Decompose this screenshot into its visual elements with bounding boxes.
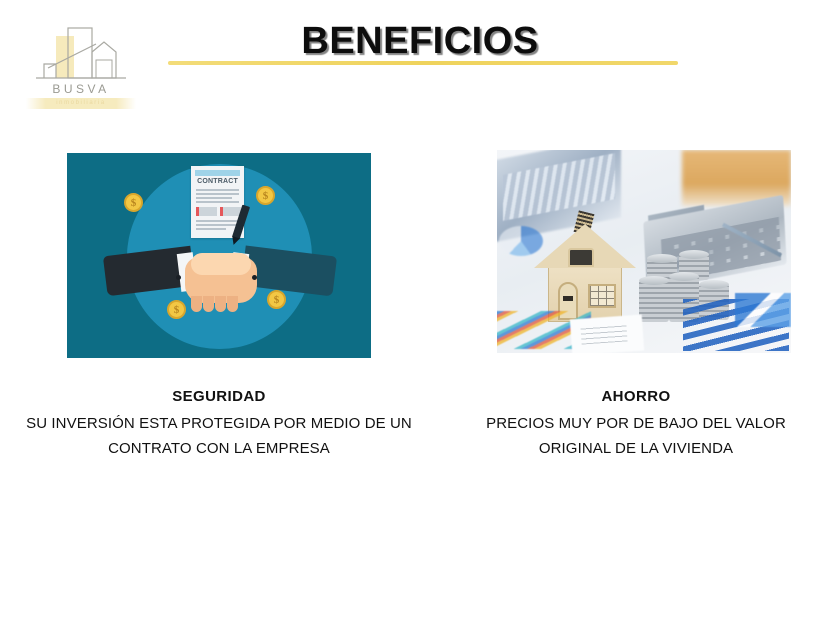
contract-text-line [196,189,239,191]
contract-label: CONTRACT [191,178,244,185]
contract-signature-box [220,207,241,216]
hand-finger [227,296,238,312]
coin-stack-top [669,272,699,281]
hand-finger [191,296,202,312]
handshake-upper-hand [191,253,251,275]
contract-text-line [196,224,239,226]
contract-text-line [196,193,239,195]
coin-stack [639,280,669,322]
dollar-coin-icon: $ [267,290,286,309]
title-underline-rule [168,61,678,65]
dollar-coin-icon: $ [256,186,275,205]
hand-finger [215,296,226,312]
house-window-grid [590,286,614,306]
benefit-body-saving: PRECIOS MUY POR DE BAJO DEL VALOR ORIGIN… [452,411,820,461]
contract-signature-box [196,207,217,216]
contract-header-bar [195,170,240,176]
bar-chart-graphic-secondary [735,293,791,327]
coin-stack-top [647,254,677,263]
benefit-caption-security: SEGURIDAD SU INVERSIÓN ESTA PROTEGIDA PO… [24,386,414,461]
contract-text-line [196,220,239,222]
contract-text-line [196,201,239,203]
benefit-body-security: SU INVERSIÓN ESTA PROTEGIDA POR MEDIO DE… [24,411,414,461]
benefit-heading-saving: AHORRO [452,386,820,408]
dollar-coin-icon: $ [124,193,143,212]
page-title: BENEFICIOS [0,20,840,63]
sleeve-button [176,275,181,280]
dollar-coin-icon: $ [167,300,186,319]
wooden-house-model [532,214,634,324]
handshake-contract-illustration: CONTRACT $ $ $ $ [67,153,371,358]
house-model-coins-photo [497,150,791,353]
logo-wordmark: BUSVA [26,82,136,96]
hand-finger [203,296,214,312]
sleeve-button [252,275,257,280]
contract-text-line [196,197,232,199]
logo-subtext: inmobiliaria [26,98,136,109]
paper-text-lines [580,323,627,344]
contract-text-line [196,228,226,230]
coin-stack-top [699,280,729,289]
benefit-caption-saving: AHORRO PRECIOS MUY POR DE BAJO DEL VALOR… [452,386,820,461]
benefit-heading-security: SEGURIDAD [24,386,414,408]
coin-stack-top [639,276,669,285]
coin-stack-top [679,250,709,259]
house-attic-window [568,248,594,267]
